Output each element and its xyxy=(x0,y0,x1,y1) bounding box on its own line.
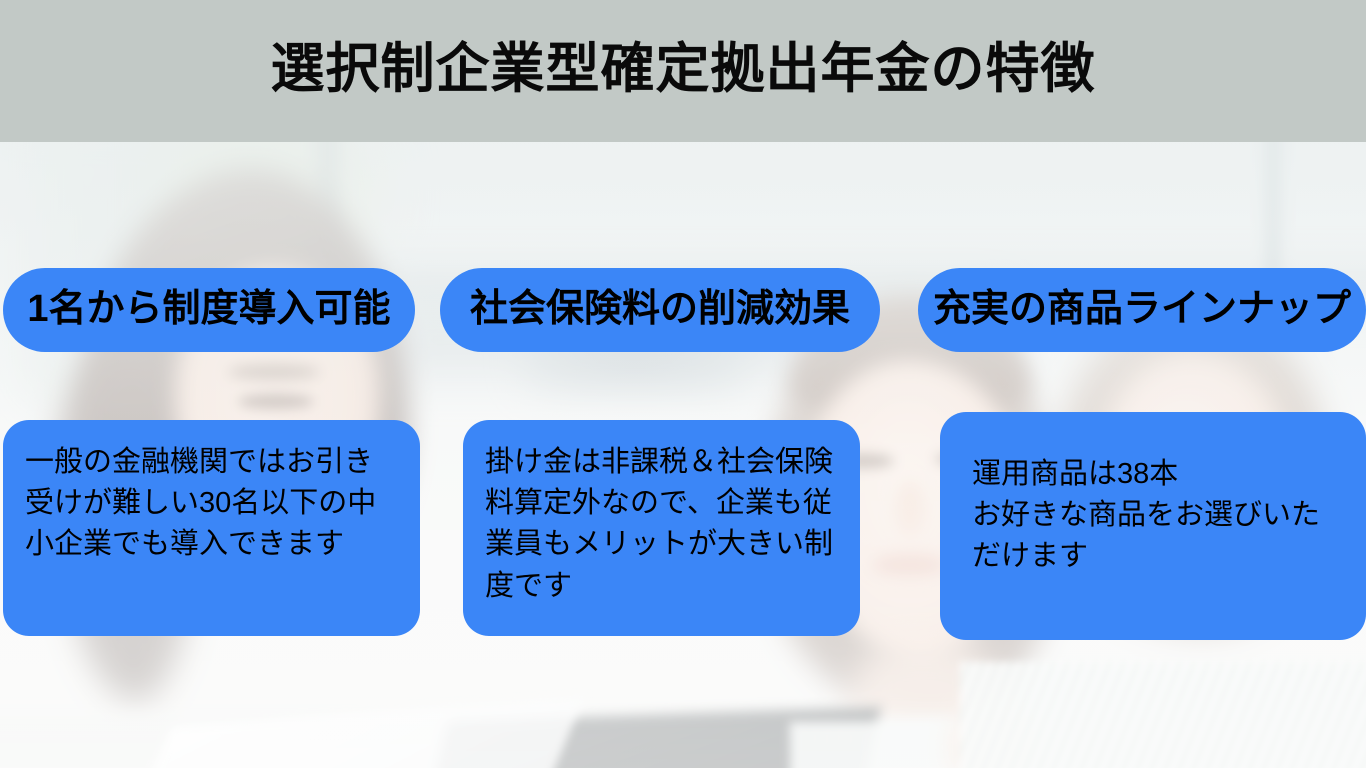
feature-heading-pill-2: 社会保険料の削減効果 xyxy=(440,268,880,352)
feature-heading-label-1: 1名から制度導入可能 xyxy=(27,289,390,331)
feature-heading-label-2: 社会保険料の削減効果 xyxy=(470,289,850,331)
feature-body-card-3: 運用商品は38本 お好きな商品をお選びいただけます xyxy=(940,412,1366,640)
feature-heading-label-3: 充実の商品ラインナップ xyxy=(933,289,1351,331)
feature-body-text-1: 一般の金融機関ではお引き受けが難しい30名以下の中小企業でも導入できます xyxy=(25,442,398,566)
feature-body-text-3: 運用商品は38本 お好きな商品をお選びいただけます xyxy=(972,454,1344,578)
feature-heading-pill-3: 充実の商品ラインナップ xyxy=(918,268,1366,352)
feature-heading-pill-1: 1名から制度導入可能 xyxy=(3,268,415,352)
feature-body-text-2: 掛け金は非課税＆社会保険料算定外なので、企業も従業員もメリットが大きい制度です xyxy=(485,442,838,607)
slide-canvas: 選択制企業型確定拠出年金の特徴 1名から制度導入可能 社会保険料の削減効果 充実… xyxy=(0,0,1366,768)
feature-body-card-2: 掛け金は非課税＆社会保険料算定外なので、企業も従業員もメリットが大きい制度です xyxy=(463,420,860,636)
feature-body-card-1: 一般の金融機関ではお引き受けが難しい30名以下の中小企業でも導入できます xyxy=(3,420,420,636)
page-title: 選択制企業型確定拠出年金の特徴 xyxy=(0,34,1366,104)
header-band: 選択制企業型確定拠出年金の特徴 xyxy=(0,0,1366,142)
